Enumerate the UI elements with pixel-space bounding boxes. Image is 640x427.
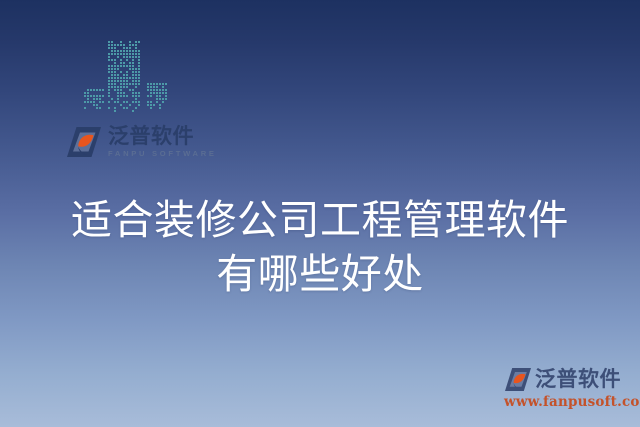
brand-name-en: FANPU SOFTWARE	[108, 150, 217, 158]
fanpu-hexagon-logo-icon	[66, 126, 102, 158]
watermark: 泛普软件 www.fanpusoft.com	[504, 365, 632, 415]
fanpu-hexagon-logo-icon	[504, 367, 532, 392]
pixel-cityscape-icon	[84, 41, 168, 113]
watermark-logo-row: 泛普软件	[504, 365, 632, 393]
poster-canvas: 泛普软件 FANPU SOFTWARE 适合装修公司工程管理软件 有哪些好处 泛…	[0, 0, 640, 427]
watermark-url: www.fanpusoft.com	[504, 396, 632, 410]
brand-name-cn: 泛普软件	[108, 126, 217, 147]
page-title-line-2: 有哪些好处	[0, 247, 640, 301]
page-title: 适合装修公司工程管理软件 有哪些好处	[0, 193, 640, 301]
brand-logo: 泛普软件 FANPU SOFTWARE	[66, 122, 198, 162]
page-title-line-1: 适合装修公司工程管理软件	[0, 193, 640, 247]
watermark-name-cn: 泛普软件	[535, 369, 621, 390]
brand-wordmark: 泛普软件 FANPU SOFTWARE	[108, 126, 217, 158]
